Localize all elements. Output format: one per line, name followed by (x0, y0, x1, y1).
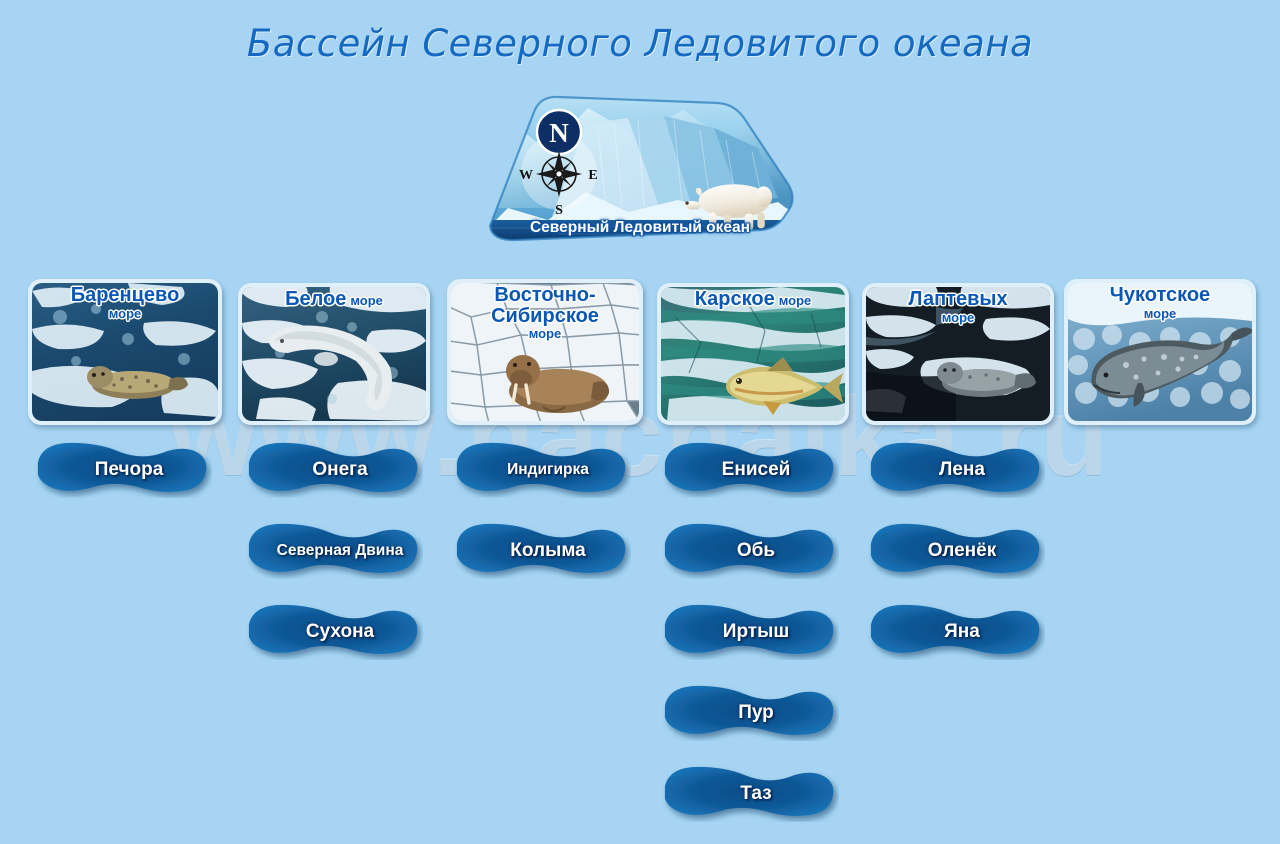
sea-card-east-siberian[interactable]: Восточно- Сибирское море (447, 279, 643, 425)
sea-card-chukchi[interactable]: Чукотское море (1064, 279, 1256, 425)
compass-south-label: S (555, 203, 563, 218)
sea-photo-chukchi (1068, 283, 1252, 421)
compass-rose-icon: N W E S (508, 102, 610, 220)
compass-north-label: N (549, 118, 569, 148)
sea-photo-laptev (866, 287, 1050, 421)
sea-photo-east-siberian (451, 283, 639, 421)
sea-card-kara[interactable]: Карскоеморе (657, 283, 849, 425)
sea-photo-kara (661, 287, 845, 421)
compass-east-label: E (588, 168, 597, 183)
sea-card-barents[interactable]: Баренцево море (28, 279, 222, 425)
arctic-ocean-badge[interactable]: N W E S Северный Ледовитый океан (478, 88, 802, 250)
page-title: Бассейн Северного Ледовитого океана (0, 22, 1280, 65)
sea-card-laptev[interactable]: Лаптевых море (862, 283, 1054, 425)
sea-photo-barents (32, 283, 218, 421)
compass-west-label: W (519, 168, 533, 183)
sea-photo-white (242, 287, 426, 421)
sea-card-white[interactable]: Белоеморе (238, 283, 430, 425)
